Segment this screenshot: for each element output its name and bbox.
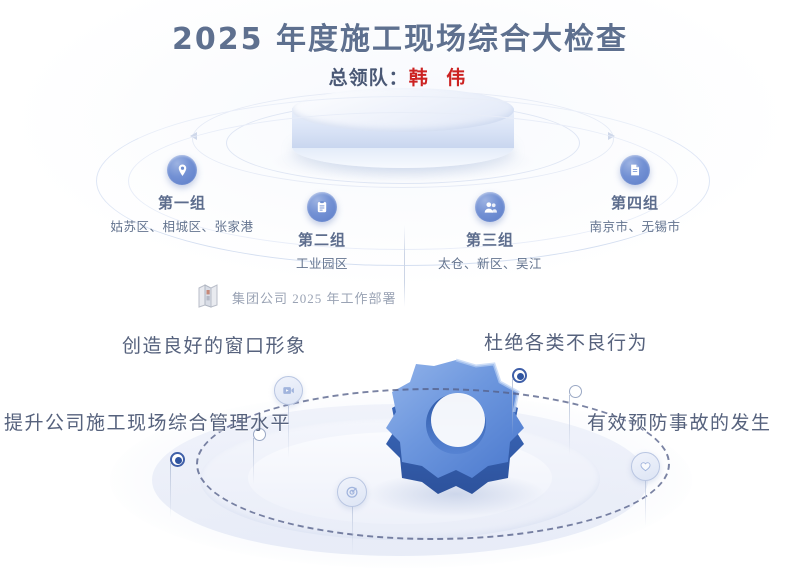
slogan-3: 杜绝各类不良行为 (484, 328, 648, 355)
slogan-1: 创造良好的窗口形象 (122, 331, 307, 358)
folding-screen-icon (196, 282, 224, 313)
group-node-3[interactable]: 第三组 太仓、新区、吴江 (423, 192, 557, 272)
group-node-4[interactable]: 第四组 南京市、无锡市 (552, 155, 718, 235)
group-areas: 太仓、新区、吴江 (423, 253, 557, 272)
group-name: 第一组 (84, 192, 280, 213)
group-name: 第三组 (423, 229, 557, 250)
chief-leader-label: 总领队： (329, 67, 409, 89)
badge-stem (645, 480, 646, 526)
group-node-2[interactable]: 第二组 工业园区 (255, 192, 389, 272)
group-areas: 工业园区 (255, 253, 389, 272)
page-title: 2025 年度施工现场综合大检查 (0, 14, 800, 58)
target-icon[interactable] (337, 477, 367, 507)
slogan-4: 有效预防事故的发生 (587, 408, 772, 435)
infographic-canvas: 2025 年度施工现场综合大检查 总领队：韩 伟 第一组 姑苏区、相城区、张家港… (0, 0, 800, 572)
group-name: 第二组 (255, 229, 389, 250)
vertical-divider (404, 225, 405, 307)
play-icon[interactable] (274, 376, 303, 405)
group-node-1[interactable]: 第一组 姑苏区、相城区、张家港 (84, 155, 280, 235)
pin-dot-icon (170, 452, 185, 467)
badge-stem (352, 506, 353, 554)
chief-leader: 总领队：韩 伟 (0, 63, 800, 90)
group-areas: 姑苏区、相城区、张家港 (84, 216, 280, 235)
slogan-2: 提升公司施工现场综合管理水平 (4, 408, 291, 435)
pin-dot-icon (569, 385, 582, 398)
people-icon (475, 192, 505, 222)
document-icon (620, 155, 650, 185)
group-areas: 南京市、无锡市 (552, 216, 718, 235)
deployment-note: 集团公司 2025 年工作部署 (196, 282, 397, 313)
clipboard-icon (307, 192, 337, 222)
pin-dot-icon (512, 368, 527, 383)
chief-leader-name: 韩 伟 (409, 67, 472, 89)
heart-shield-icon[interactable] (631, 452, 660, 481)
deployment-text: 集团公司 2025 年工作部署 (232, 288, 397, 307)
group-name: 第四组 (552, 192, 718, 213)
location-pin-icon (167, 155, 197, 185)
